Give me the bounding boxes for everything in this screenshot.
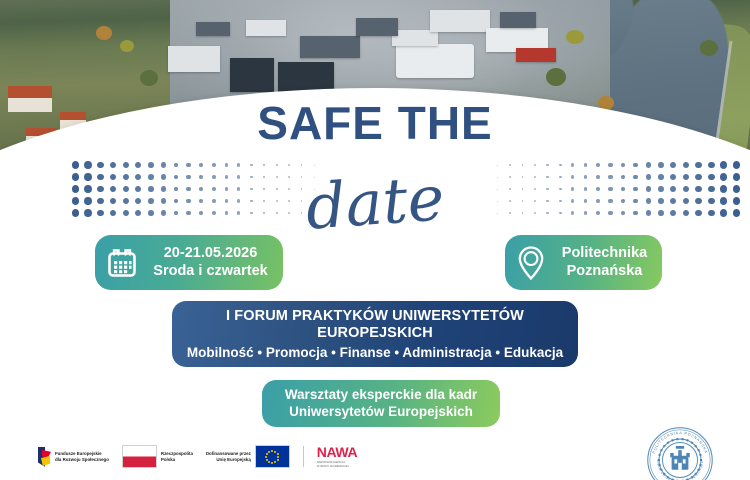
- dot: [733, 209, 741, 217]
- dot: [123, 186, 129, 192]
- dot: [571, 175, 574, 178]
- dot: [237, 175, 240, 178]
- dot-grid-row: [70, 184, 320, 194]
- dot: [72, 185, 80, 193]
- photo-building: [430, 10, 490, 32]
- forum-topics: Mobilność • Promocja • Finanse • Adminis…: [187, 345, 563, 360]
- footer-logo-strip: Fundusze Europejskie dla Rozwoju Społecz…: [38, 445, 357, 469]
- photo-tree: [120, 40, 134, 52]
- dot: [633, 211, 638, 216]
- dot: [314, 177, 315, 178]
- dot: [596, 163, 600, 167]
- eu-star: [277, 453, 279, 455]
- dot: [110, 174, 117, 181]
- forum-banner[interactable]: I FORUM PRAKTYKÓW UNIWERSYTETÓW EUROPEJS…: [172, 301, 578, 367]
- workshop-line-1: Warsztaty eksperckie dla kadr: [285, 387, 477, 404]
- photo-tree: [566, 30, 584, 44]
- dot: [522, 164, 524, 166]
- dot: [237, 163, 240, 166]
- dot-grid-row: [70, 208, 320, 218]
- dot: [497, 165, 498, 166]
- dot: [522, 200, 524, 202]
- dot: [72, 209, 80, 217]
- dot: [186, 175, 190, 179]
- dot: [263, 200, 265, 202]
- dot-grid-row: [492, 160, 742, 170]
- logo-fundusze-europejskie: Fundusze Europejskie dla Rozwoju Społecz…: [38, 447, 109, 467]
- forum-title-line-1: I FORUM PRAKTYKÓW UNIWERSYTETÓW: [226, 308, 524, 325]
- dot: [522, 176, 524, 178]
- dot: [148, 186, 154, 192]
- dot: [72, 197, 80, 205]
- dot: [225, 211, 228, 214]
- dot: [237, 211, 240, 214]
- dot: [186, 211, 190, 215]
- dot: [584, 175, 587, 178]
- dot: [135, 174, 141, 180]
- dot: [276, 200, 278, 202]
- dot: [135, 210, 141, 216]
- dot: [509, 212, 510, 213]
- dot: [571, 211, 574, 214]
- dot: [584, 211, 587, 214]
- dot: [314, 165, 315, 166]
- dot: [670, 174, 676, 180]
- dot: [199, 175, 203, 179]
- dot: [97, 210, 104, 217]
- dot: [186, 163, 190, 167]
- dot: [97, 174, 104, 181]
- dot: [683, 174, 689, 180]
- dot: [633, 187, 638, 192]
- dot: [276, 188, 278, 190]
- dot-grid-left: [70, 160, 320, 218]
- dot: [110, 162, 117, 169]
- eu-star: [265, 456, 267, 458]
- dot: [250, 212, 253, 215]
- dot: [559, 200, 562, 203]
- dot: [212, 175, 216, 179]
- dot: [174, 199, 179, 204]
- dot: [546, 200, 548, 202]
- calendar-icon: [105, 246, 139, 280]
- dot: [225, 199, 228, 202]
- dot: [670, 186, 676, 192]
- dot: [161, 162, 166, 167]
- dot: [276, 212, 278, 214]
- dot: [199, 187, 203, 191]
- dot: [621, 187, 625, 191]
- dot: [250, 176, 253, 179]
- dot: [633, 175, 638, 180]
- dot: [534, 176, 536, 178]
- photo-tree: [546, 68, 566, 86]
- dot: [161, 198, 166, 203]
- dot: [174, 187, 179, 192]
- eu-star: [271, 450, 273, 452]
- dot: [646, 186, 651, 191]
- eu-star: [266, 453, 268, 455]
- dot: [608, 163, 612, 167]
- logo-caption: Fundusze Europejskie dla Rozwoju Społecz…: [55, 451, 109, 463]
- dot: [596, 199, 600, 203]
- dot: [186, 199, 190, 203]
- nawa-subtitle: NARODOWA AGENCJA WYMIANY AKADEMICKIEJ: [317, 461, 349, 469]
- logo-rzeczpospolita-polska: Rzeczpospolita Polska: [122, 445, 193, 468]
- dot: [683, 162, 689, 168]
- dot: [263, 176, 265, 178]
- dot: [123, 210, 129, 216]
- dot: [708, 174, 715, 181]
- eu-star: [274, 451, 276, 453]
- dot: [301, 212, 302, 213]
- workshop-badge-text: Warsztaty eksperckie dla kadr Uniwersyte…: [285, 387, 477, 421]
- photo-building: [246, 20, 286, 36]
- dot: [225, 175, 228, 178]
- dot: [584, 163, 587, 166]
- photo-building: [516, 48, 556, 62]
- dot: [621, 211, 625, 215]
- dot: [733, 197, 741, 205]
- dot: [596, 187, 600, 191]
- photo-building: [230, 58, 274, 92]
- dot: [646, 162, 651, 167]
- event-days: Sroda i czwartek: [148, 263, 273, 281]
- dot: [72, 173, 80, 181]
- dot: [110, 210, 117, 217]
- dot: [509, 188, 510, 189]
- dot: [522, 188, 524, 190]
- dot: [720, 197, 727, 204]
- dot: [534, 212, 536, 214]
- dot: [608, 199, 612, 203]
- dot: [97, 198, 104, 205]
- dot: [288, 164, 290, 166]
- eu-star: [277, 456, 279, 458]
- location-badge-text: Politechnika Poznańska: [555, 245, 654, 280]
- eu-star: [268, 461, 270, 463]
- dot: [161, 186, 166, 191]
- dot: [97, 186, 104, 193]
- dot: [199, 199, 203, 203]
- dot: [212, 211, 216, 215]
- dot: [658, 162, 664, 168]
- dot: [135, 198, 141, 204]
- dot: [534, 200, 536, 202]
- dot: [733, 185, 741, 193]
- photo-building: [300, 36, 360, 58]
- dot: [683, 186, 689, 192]
- dot: [148, 174, 154, 180]
- dot: [621, 199, 625, 203]
- dot: [288, 188, 290, 190]
- dot: [250, 164, 253, 167]
- dot: [584, 187, 587, 190]
- dot: [301, 188, 302, 189]
- dot: [199, 163, 203, 167]
- dot: [621, 163, 625, 167]
- dot: [288, 176, 290, 178]
- dot: [135, 162, 141, 168]
- dot: [509, 164, 510, 165]
- photo-building: [356, 18, 398, 36]
- eu-star: [271, 462, 273, 464]
- dot: [670, 198, 676, 204]
- dot: [608, 175, 612, 179]
- location-line-2: Poznańska: [555, 263, 654, 281]
- dot-grid-row: [492, 184, 742, 194]
- dot: [522, 212, 524, 214]
- dot: [301, 200, 302, 201]
- footer-divider: [303, 446, 304, 467]
- dot: [633, 199, 638, 204]
- dot: [596, 211, 600, 215]
- dot: [301, 164, 302, 165]
- dot: [148, 162, 154, 168]
- dot: [84, 161, 91, 168]
- dot: [314, 213, 315, 214]
- dot: [110, 198, 117, 205]
- dot-grid-row: [70, 172, 320, 182]
- dot: [84, 185, 91, 192]
- photo-building: [168, 46, 220, 72]
- eu-star: [274, 461, 276, 463]
- eu-flag-icon: [255, 445, 290, 468]
- dot: [276, 176, 278, 178]
- dot: [263, 188, 265, 190]
- eu-star: [277, 459, 279, 461]
- photo-tree: [700, 40, 718, 56]
- dot: [720, 209, 727, 216]
- dot: [225, 163, 228, 166]
- photo-building: [392, 30, 438, 46]
- dot: [559, 164, 562, 167]
- dot-grid-right: [492, 160, 742, 218]
- dot: [497, 213, 498, 214]
- dot: [646, 174, 651, 179]
- dot: [97, 162, 104, 169]
- location-badge[interactable]: Politechnika Poznańska: [505, 235, 662, 290]
- dot: [225, 187, 228, 190]
- dot: [110, 186, 117, 193]
- dot: [174, 163, 179, 168]
- logo-unia-europejska: Dofinansowane przez Unię Europejską: [206, 445, 290, 468]
- dot: [658, 198, 664, 204]
- dot: [695, 186, 702, 193]
- dot: [237, 187, 240, 190]
- dot: [695, 210, 702, 217]
- dot: [314, 201, 315, 202]
- dot: [596, 175, 600, 179]
- dot: [212, 187, 216, 191]
- dot: [708, 162, 715, 169]
- dot: [546, 164, 548, 166]
- dot: [571, 187, 574, 190]
- dot: [584, 199, 587, 202]
- dot-grid-row: [492, 172, 742, 182]
- dot: [186, 187, 190, 191]
- dot: [608, 211, 612, 215]
- dot: [720, 161, 727, 168]
- dot: [123, 198, 129, 204]
- dot: [695, 198, 702, 205]
- eu-star: [266, 459, 268, 461]
- poznan-university-of-technology-seal: POLITECHNIKA POZNAŃSKA POZNAN UNIVERSITY…: [645, 425, 715, 480]
- dot: [683, 210, 689, 216]
- dot: [72, 161, 80, 169]
- dot: [658, 186, 664, 192]
- dot: [174, 211, 179, 216]
- dot: [708, 210, 715, 217]
- forum-title-line-2: EUROPEJSKICH: [226, 325, 524, 342]
- dot: [695, 174, 702, 181]
- photo-building: [500, 12, 536, 28]
- dot-grid-row: [70, 196, 320, 206]
- dot: [199, 211, 203, 215]
- dot: [546, 176, 548, 178]
- dot: [135, 186, 141, 192]
- dot: [161, 210, 166, 215]
- dot: [683, 198, 689, 204]
- dot: [84, 173, 91, 180]
- dot: [670, 162, 676, 168]
- polish-flag-icon: [122, 445, 157, 468]
- logo-caption: Dofinansowane przez Unię Europejską: [206, 451, 251, 463]
- dot: [733, 161, 741, 169]
- dot: [263, 164, 265, 166]
- dot: [212, 199, 216, 203]
- dot: [174, 175, 179, 180]
- dot: [571, 199, 574, 202]
- dot: [534, 164, 536, 166]
- dot: [84, 197, 91, 204]
- dot: [123, 162, 129, 168]
- nawa-wordmark: NAWA: [317, 445, 357, 459]
- dot: [708, 198, 715, 205]
- dot: [161, 174, 166, 179]
- dot: [546, 188, 548, 190]
- dot: [646, 198, 651, 203]
- dot: [497, 201, 498, 202]
- dot: [720, 185, 727, 192]
- dot: [571, 163, 574, 166]
- dot: [237, 199, 240, 202]
- dot-grid-row: [492, 208, 742, 218]
- dot: [497, 177, 498, 178]
- date-badge-text: 20-21.05.2026 Sroda i czwartek: [148, 245, 273, 280]
- dot: [250, 188, 253, 191]
- dot: [301, 176, 302, 177]
- dot: [509, 176, 510, 177]
- dot: [288, 200, 290, 202]
- dot: [148, 210, 154, 216]
- photo-tree: [96, 26, 112, 40]
- map-pin-icon: [513, 243, 549, 283]
- dot: [733, 173, 741, 181]
- dot: [212, 163, 216, 167]
- forum-title: I FORUM PRAKTYKÓW UNIWERSYTETÓW EUROPEJS…: [226, 308, 524, 342]
- dot: [546, 212, 548, 214]
- date-badge[interactable]: 20-21.05.2026 Sroda i czwartek: [95, 235, 283, 290]
- dot: [509, 200, 510, 201]
- dot: [534, 188, 536, 190]
- dot: [608, 187, 612, 191]
- logo-nawa: NAWA NARODOWA AGENCJA WYMIANY AKADEMICKI…: [317, 445, 357, 469]
- eu-star: [268, 451, 270, 453]
- dot: [123, 174, 129, 180]
- photo-building: [396, 44, 474, 78]
- dot: [621, 175, 625, 179]
- dot: [84, 209, 91, 216]
- poster-canvas: SAFE THE date 20-21.05.2026 Sroda i czwa…: [0, 0, 750, 480]
- dot: [148, 198, 154, 204]
- dot: [250, 200, 253, 203]
- dot: [559, 176, 562, 179]
- photo-building: [196, 22, 230, 36]
- dot: [288, 212, 290, 214]
- photo-tree: [140, 70, 158, 86]
- dot: [695, 162, 702, 169]
- dot: [314, 189, 315, 190]
- dot-grid-row: [492, 196, 742, 206]
- dot: [646, 210, 651, 215]
- dot: [658, 210, 664, 216]
- fundusze-europejskie-icon: [38, 447, 51, 467]
- dot: [276, 164, 278, 166]
- dot: [497, 189, 498, 190]
- dot: [720, 173, 727, 180]
- dot: [670, 210, 676, 216]
- logo-caption: Rzeczpospolita Polska: [161, 451, 193, 463]
- event-date: 20-21.05.2026: [148, 245, 273, 263]
- dot: [263, 212, 265, 214]
- dot: [633, 163, 638, 168]
- dot: [559, 212, 562, 215]
- dot-grid-row: [70, 160, 320, 170]
- workshop-badge[interactable]: Warsztaty eksperckie dla kadr Uniwersyte…: [262, 380, 500, 427]
- workshop-line-2: Uniwersytetów Europejskich: [285, 404, 477, 421]
- dot: [658, 174, 664, 180]
- dot: [559, 188, 562, 191]
- location-line-1: Politechnika: [555, 245, 654, 263]
- dot: [708, 186, 715, 193]
- page-title: SAFE THE: [0, 100, 750, 146]
